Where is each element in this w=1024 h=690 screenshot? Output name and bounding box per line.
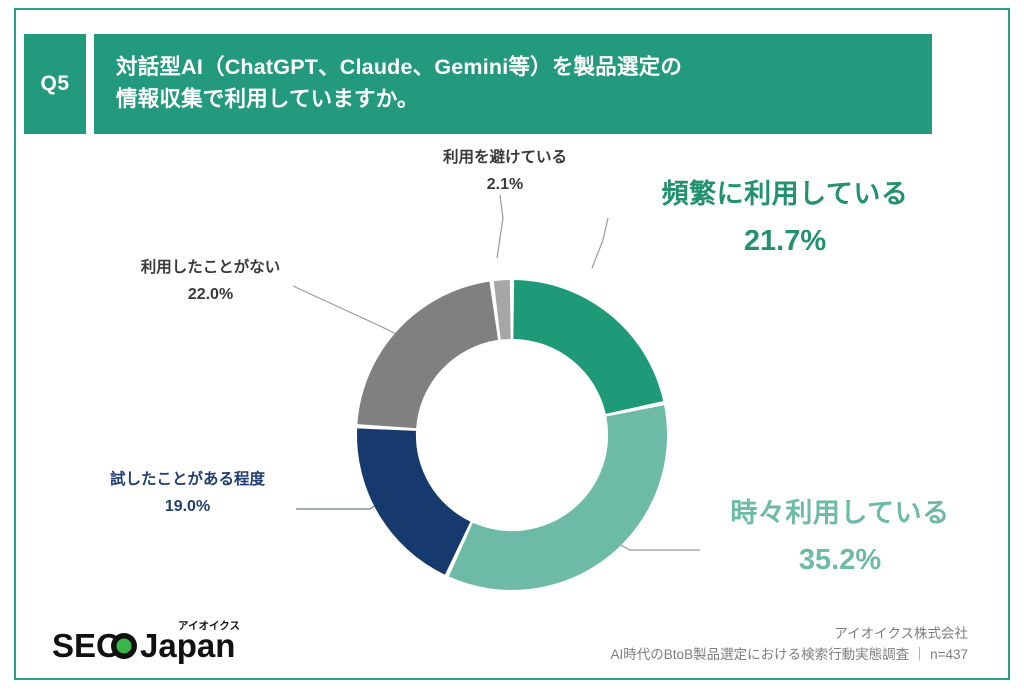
donut-slice	[357, 282, 498, 429]
logo-o-inner	[117, 639, 132, 654]
slice-label-never-name: 利用したことがない	[108, 258, 313, 279]
logo-kana-text: アイオイクス	[178, 620, 240, 632]
logo-japan-text: Japan	[140, 627, 235, 664]
seo-japan-logo: SEO Japan アイオイクス	[52, 616, 242, 668]
question-header: Q5 対話型AI（ChatGPT、Claude、Gemini等）を製品選定の 情…	[24, 34, 932, 134]
footer-survey: AI時代のBtoB製品選定における検索行動実態調査 ｜ n=437	[611, 644, 968, 666]
slice-label-avoid: 利用を避けている 2.1%	[405, 148, 605, 195]
question-number-badge: Q5	[24, 34, 86, 134]
question-title-line2: 情報収集で利用していますか。	[116, 84, 910, 116]
slice-label-sometimes-pct: 35.2%	[680, 541, 1000, 580]
donut-chart: 利用を避けている 2.1% 利用したことがない 22.0% 試したことがある程度…	[0, 140, 1024, 610]
slice-label-frequent: 頻繁に利用している 21.7%	[620, 176, 950, 261]
slice-label-never-pct: 22.0%	[108, 284, 313, 305]
donut-slices	[357, 280, 667, 590]
slice-label-sometimes-name: 時々利用している	[680, 495, 1000, 531]
slice-label-tried: 試したことがある程度 19.0%	[80, 470, 295, 517]
slice-label-avoid-pct: 2.1%	[405, 174, 605, 195]
slice-label-sometimes: 時々利用している 35.2%	[680, 495, 1000, 580]
donut-svg	[312, 235, 712, 635]
slice-label-never: 利用したことがない 22.0%	[108, 258, 313, 305]
donut-slice	[449, 405, 667, 590]
donut-slice	[513, 280, 663, 414]
donut-slice	[357, 428, 470, 574]
footer-credits: アイオイクス株式会社 AI時代のBtoB製品選定における検索行動実態調査 ｜ n…	[611, 623, 968, 666]
slice-label-avoid-name: 利用を避けている	[405, 148, 605, 169]
question-title-line1: 対話型AI（ChatGPT、Claude、Gemini等）を製品選定の	[116, 52, 910, 84]
slice-label-frequent-name: 頻繁に利用している	[620, 176, 950, 212]
question-title: 対話型AI（ChatGPT、Claude、Gemini等）を製品選定の 情報収集…	[94, 34, 932, 134]
slice-label-frequent-pct: 21.7%	[620, 222, 950, 261]
footer-company: アイオイクス株式会社	[611, 623, 968, 645]
slice-label-tried-name: 試したことがある程度	[80, 470, 295, 491]
slice-label-tried-pct: 19.0%	[80, 496, 295, 517]
slide: Q5 対話型AI（ChatGPT、Claude、Gemini等）を製品選定の 情…	[0, 0, 1024, 690]
